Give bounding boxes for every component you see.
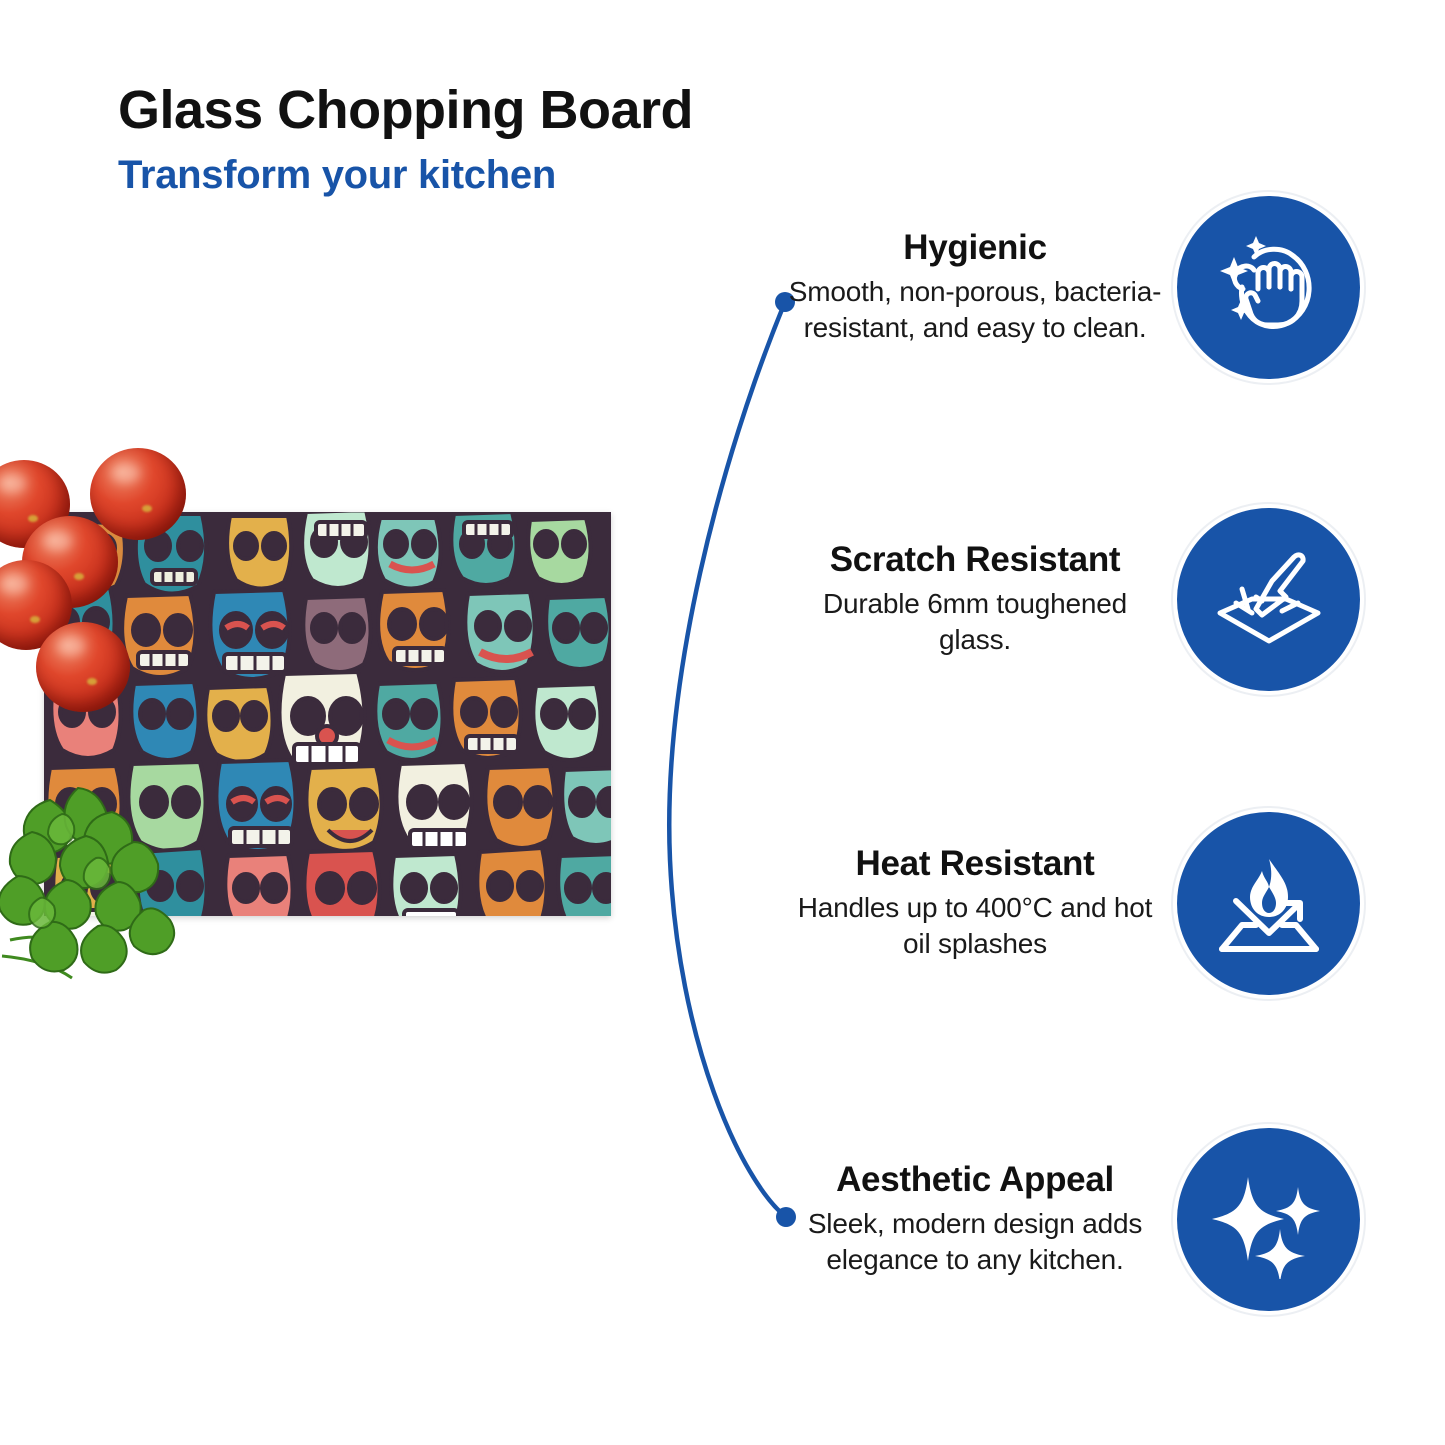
feature-text: Heat Resistant Handles up to 400°C and h… — [785, 845, 1177, 961]
feature-icon-circle — [1177, 196, 1360, 379]
product-image-area — [0, 440, 640, 980]
feature-description: Durable 6mm toughened glass. — [785, 586, 1165, 658]
infographic-canvas: Glass Chopping Board Transform your kitc… — [0, 0, 1445, 1445]
flame-deflect-surface-icon — [1210, 845, 1328, 963]
page-heading: Glass Chopping Board Transform your kitc… — [118, 82, 938, 197]
cleaning-hand-sparkle-icon — [1210, 229, 1328, 347]
feature-text: Aesthetic Appeal Sleek, modern design ad… — [785, 1161, 1177, 1277]
feature-description: Smooth, non-porous, bacteria-resistant, … — [785, 274, 1165, 346]
feature-title: Hygienic — [785, 229, 1165, 268]
page-title: Glass Chopping Board — [118, 82, 938, 139]
parsley-garnish — [0, 770, 252, 1000]
feature-title: Scratch Resistant — [785, 541, 1165, 580]
feature-scratch-resistant: Scratch Resistant Durable 6mm toughened … — [785, 508, 1375, 691]
feature-icon-circle — [1177, 812, 1360, 995]
feature-title: Heat Resistant — [785, 845, 1165, 884]
sparkles-icon — [1210, 1161, 1328, 1279]
feature-title: Aesthetic Appeal — [785, 1161, 1165, 1200]
feature-icon-circle — [1177, 508, 1360, 691]
cherry-tomato — [36, 622, 130, 712]
feature-description: Sleek, modern design adds elegance to an… — [785, 1206, 1165, 1278]
feature-hygienic: Hygienic Smooth, non-porous, bacteria-re… — [785, 196, 1375, 379]
cherry-tomato — [90, 448, 186, 540]
knife-impact-surface-icon — [1210, 541, 1328, 659]
feature-aesthetic-appeal: Aesthetic Appeal Sleek, modern design ad… — [785, 1128, 1375, 1311]
feature-icon-circle — [1177, 1128, 1360, 1311]
feature-text: Scratch Resistant Durable 6mm toughened … — [785, 541, 1177, 657]
feature-heat-resistant: Heat Resistant Handles up to 400°C and h… — [785, 812, 1375, 995]
feature-text: Hygienic Smooth, non-porous, bacteria-re… — [785, 229, 1177, 345]
page-subtitle: Transform your kitchen — [118, 153, 938, 197]
feature-description: Handles up to 400°C and hot oil splashes — [785, 890, 1165, 962]
